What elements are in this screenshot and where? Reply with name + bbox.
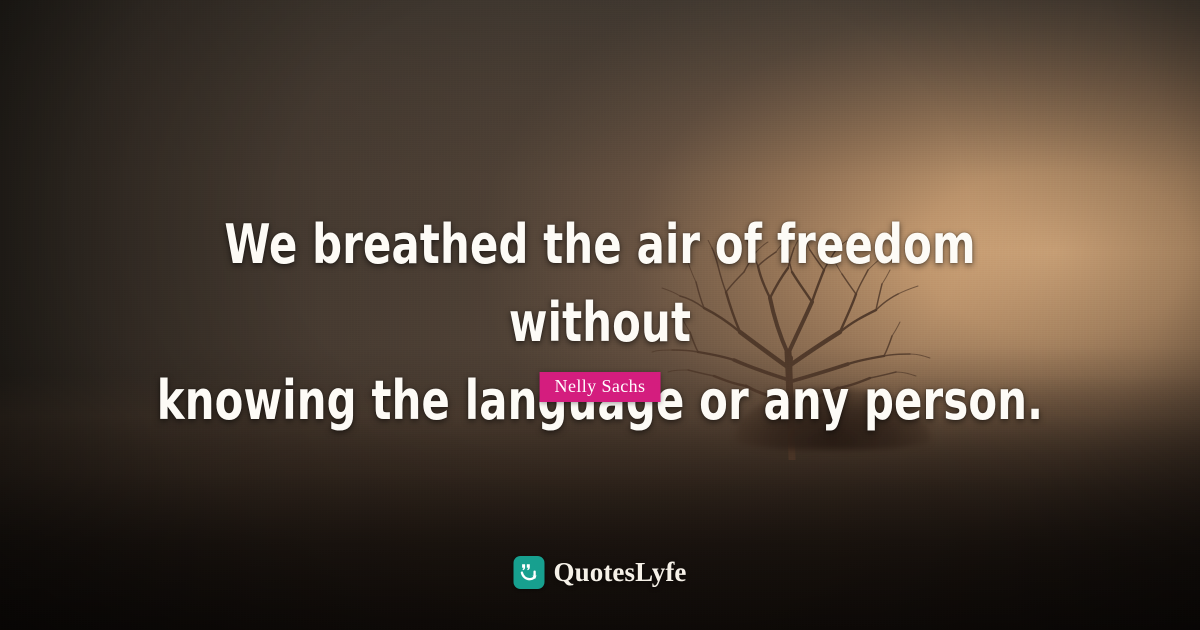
quote-smiley-icon bbox=[514, 556, 545, 589]
brand-logo[interactable]: QuotesLyfe bbox=[514, 556, 687, 589]
author-badge[interactable]: Nelly Sachs bbox=[540, 372, 661, 402]
quote-text: We breathed the air of freedom without k… bbox=[84, 206, 1116, 440]
brand-name: QuotesLyfe bbox=[554, 557, 687, 588]
quote-card: We breathed the air of freedom without k… bbox=[0, 0, 1200, 630]
